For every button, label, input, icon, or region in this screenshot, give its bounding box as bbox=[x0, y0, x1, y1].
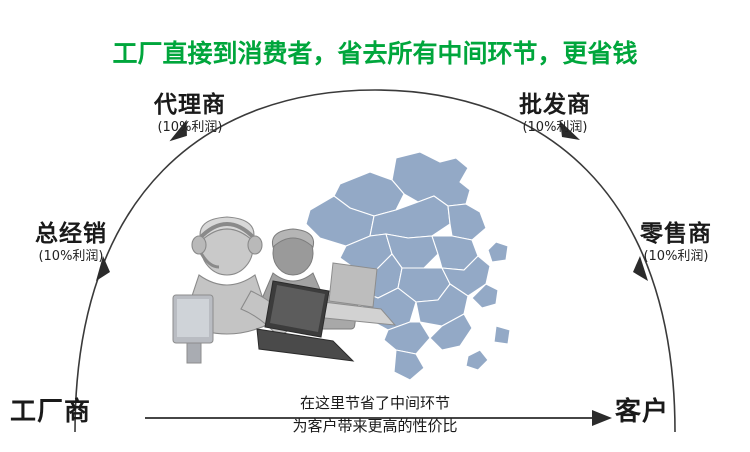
node-wholesale-sublabel: (10%利润) bbox=[485, 118, 625, 138]
node-wholesale-label: 批发商 bbox=[485, 93, 625, 118]
node-distributor: 总经销 (10%利润) bbox=[6, 222, 136, 267]
bottom-arrow-head bbox=[592, 410, 612, 426]
node-agent-sublabel: (10%利润) bbox=[120, 118, 260, 138]
node-agent: 代理商 (10%利润) bbox=[120, 93, 260, 138]
bottom-caption-line2: 为客户带来更高的性价比 bbox=[250, 415, 500, 438]
node-retailer-label: 零售商 bbox=[608, 222, 744, 247]
node-distributor-label: 总经销 bbox=[6, 222, 136, 247]
bottom-arrow-caption: 在这里节省了中间环节 为客户带来更高的性价比 bbox=[250, 392, 500, 439]
call-center-people-graphic bbox=[165, 195, 405, 385]
node-agent-label: 代理商 bbox=[120, 93, 260, 118]
node-retailer: 零售商 (10%利润) bbox=[608, 222, 744, 267]
node-distributor-sublabel: (10%利润) bbox=[6, 247, 136, 267]
bottom-caption-line1: 在这里节省了中间环节 bbox=[250, 392, 500, 415]
node-retailer-sublabel: (10%利润) bbox=[608, 247, 744, 267]
node-factory-label: 工厂商 bbox=[10, 398, 130, 427]
node-customer-label: 客户 bbox=[615, 398, 735, 427]
node-wholesale: 批发商 (10%利润) bbox=[485, 93, 625, 138]
node-factory: 工厂商 bbox=[10, 398, 130, 427]
node-customer: 客户 bbox=[615, 398, 735, 427]
infographic-canvas: 工厂直接到消费者，省去所有中间环节，更省钱 bbox=[0, 0, 750, 452]
